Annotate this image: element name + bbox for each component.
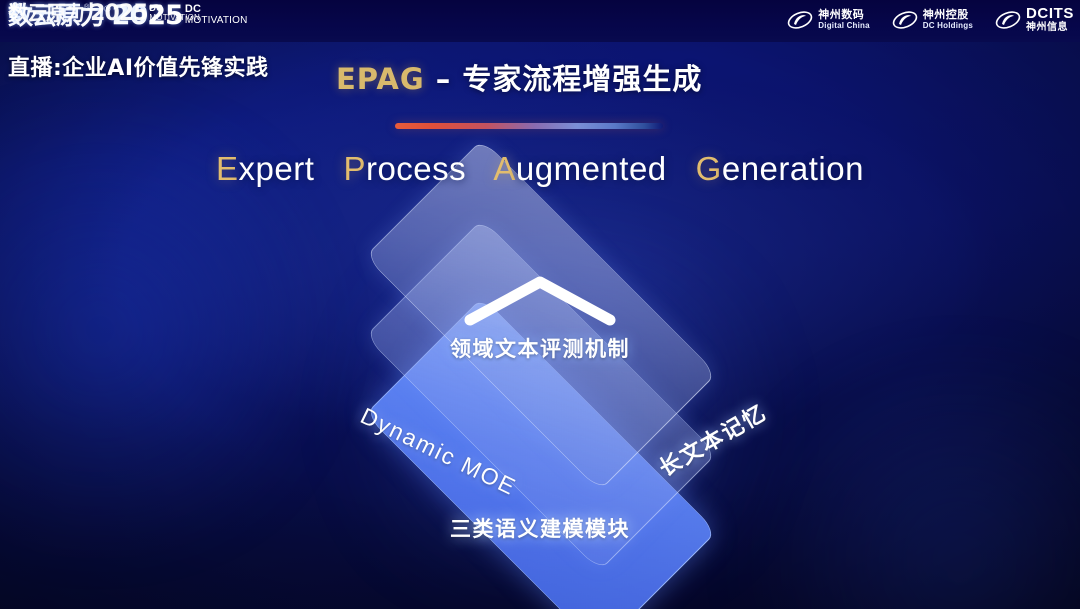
- slide-canvas: 数云原力 ® 2025 DC MOTIVATION 直播:企业AI价值先锋实践 …: [0, 0, 1080, 609]
- partner-logo-group: 神州数码 Digital China 神州控股 DC Holdings DCIT…: [787, 6, 1074, 33]
- partner-name-en: DCITS: [1026, 6, 1074, 21]
- partner-label: 神州数码 Digital China: [818, 9, 870, 30]
- partner-label: 神州控股 DC Holdings: [923, 9, 973, 30]
- partner-logo-dc-holdings: 神州控股 DC Holdings: [892, 9, 973, 31]
- partner-name-en: Digital China: [818, 22, 870, 30]
- registered-mark-icon: ®: [84, 3, 89, 12]
- watermark-dc-motivation: DC MOTIVATION: [149, 4, 200, 22]
- partner-logo-dcits: DCITS 神州信息: [995, 6, 1074, 33]
- watermark-name-cn: 数云原力: [8, 3, 84, 24]
- partner-logo-digital-china: 神州数码 Digital China: [787, 9, 870, 31]
- watermark-year: 2025: [90, 3, 147, 24]
- watermark-dc-line1: DC: [149, 4, 200, 13]
- partner-name-cn: 神州控股: [923, 9, 973, 20]
- swirl-logo-icon: [787, 9, 813, 31]
- partner-name-cn: 神州数码: [818, 9, 870, 20]
- partner-label: DCITS 神州信息: [1026, 6, 1074, 33]
- swirl-logo-icon: [892, 9, 918, 31]
- swirl-logo-icon: [995, 9, 1021, 31]
- partner-name-en: DC Holdings: [923, 22, 973, 30]
- partner-name-cn: 神州信息: [1026, 23, 1074, 33]
- watermark-dc-line2: MOTIVATION: [149, 13, 200, 22]
- brand-watermark: 数云原力 ® 2025 DC MOTIVATION: [8, 3, 1066, 605]
